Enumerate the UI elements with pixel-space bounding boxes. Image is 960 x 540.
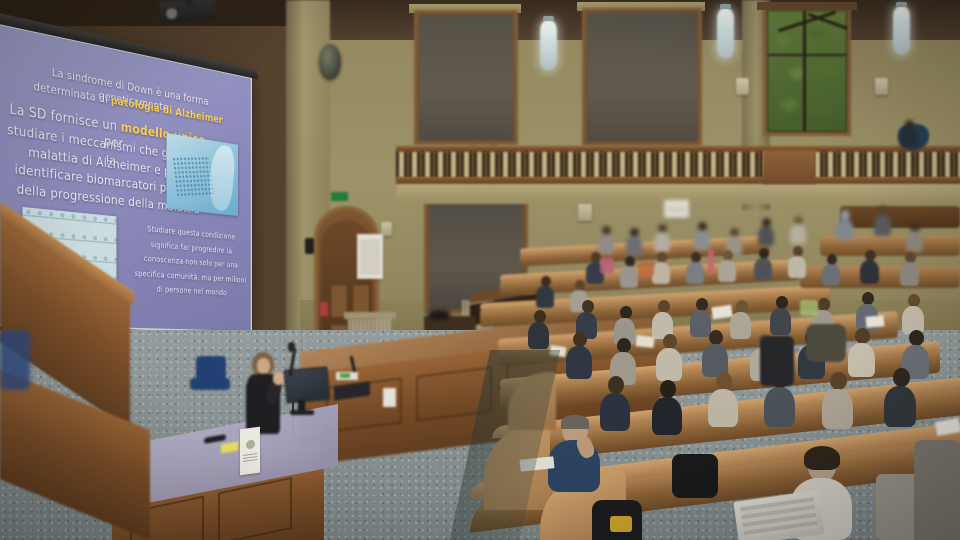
microphone-head bbox=[288, 342, 295, 352]
backpack-on-bench bbox=[806, 324, 846, 362]
window-open-lintel bbox=[757, 2, 857, 10]
audience-person bbox=[654, 224, 670, 250]
monitor-base bbox=[290, 410, 314, 415]
attendee-hair bbox=[561, 415, 589, 429]
bench-right-1 bbox=[840, 206, 960, 228]
audience-person bbox=[874, 206, 891, 234]
wall-speaker-1 bbox=[578, 202, 592, 221]
audience-person bbox=[836, 210, 853, 238]
attendee-foreground-right bbox=[914, 440, 960, 540]
balcony-solid-panel bbox=[763, 150, 815, 184]
wall-phone[interactable] bbox=[305, 238, 314, 254]
wall-sconce-1-cap bbox=[543, 16, 554, 21]
audience-person bbox=[708, 372, 738, 424]
posted-notice bbox=[357, 234, 383, 279]
audience-person bbox=[528, 310, 549, 346]
desk-card-right bbox=[383, 388, 396, 407]
audience-person bbox=[848, 328, 875, 374]
audience-person bbox=[788, 246, 806, 276]
window-shaded-1 bbox=[414, 10, 518, 145]
desk-label-green bbox=[340, 373, 350, 378]
audience-person bbox=[686, 252, 704, 282]
desk-name-card bbox=[240, 427, 260, 476]
audience-person bbox=[652, 252, 670, 282]
audience-person bbox=[598, 226, 614, 252]
audience-person bbox=[758, 218, 774, 244]
audience-person bbox=[822, 372, 853, 426]
audience-person bbox=[730, 300, 751, 336]
wall-sconce-3 bbox=[893, 6, 910, 54]
audience-person bbox=[566, 332, 592, 376]
window-shaded-2 bbox=[582, 8, 702, 146]
audience-person bbox=[614, 306, 635, 342]
window-open-with-foliage bbox=[763, 6, 851, 136]
paper-on-bench bbox=[866, 315, 885, 328]
paper-on-bench bbox=[635, 335, 654, 348]
audience-person bbox=[690, 298, 711, 334]
foreground-attendee-blue-sweater bbox=[548, 418, 600, 488]
audience-clothing-accent bbox=[800, 300, 818, 316]
audience-person bbox=[576, 300, 597, 336]
audience-person bbox=[790, 216, 806, 242]
audience-person bbox=[900, 252, 919, 284]
slide-caption-line-5: di persone nel mondo bbox=[134, 284, 246, 300]
wall-speaker-3 bbox=[875, 78, 888, 95]
audience-person-balcony bbox=[900, 120, 918, 146]
yellow-item-in-bag bbox=[610, 516, 632, 532]
audience-person bbox=[906, 222, 923, 250]
object-on-side-table bbox=[428, 310, 450, 320]
audience-person bbox=[884, 368, 916, 424]
radiator-shelf bbox=[344, 312, 396, 319]
wall-sconce-2-cap bbox=[720, 4, 731, 9]
audience-person bbox=[718, 250, 736, 280]
audience-person bbox=[600, 376, 630, 428]
wall-speaker-2 bbox=[736, 78, 749, 95]
audience-clothing-accent bbox=[708, 250, 714, 274]
audience-person bbox=[860, 250, 879, 282]
posted-notice-2 bbox=[664, 200, 689, 218]
wall-sconce-2 bbox=[717, 8, 734, 58]
coat-on-bench bbox=[760, 336, 794, 386]
wall-sconce-3-cap bbox=[896, 2, 907, 7]
audience-person bbox=[702, 330, 728, 374]
exit-sign bbox=[331, 192, 348, 201]
audience-clothing-accent bbox=[638, 262, 654, 276]
wall-sconce-1 bbox=[540, 20, 557, 70]
balcony-balusters bbox=[396, 152, 960, 178]
audience-person bbox=[822, 254, 840, 284]
blue-office-chair-seat[interactable] bbox=[190, 378, 230, 390]
ceiling-left bbox=[0, 0, 300, 26]
attendee-hair bbox=[804, 446, 840, 470]
audience-person bbox=[656, 334, 682, 378]
wall-medallion-relief bbox=[319, 44, 341, 80]
audience-person bbox=[620, 256, 638, 286]
bag-on-bench bbox=[672, 454, 718, 498]
audience-person bbox=[902, 294, 924, 332]
audience-person bbox=[754, 248, 772, 278]
blue-chair-2[interactable] bbox=[0, 330, 30, 390]
presenter-hand bbox=[273, 372, 284, 385]
slide-caption-line-4: specifica comunità, ma per milioni bbox=[132, 269, 249, 286]
audience-person bbox=[626, 228, 642, 254]
audience-person bbox=[652, 300, 673, 336]
audience-person bbox=[770, 296, 791, 332]
audience-person bbox=[652, 380, 682, 432]
presenter-face bbox=[257, 358, 270, 374]
projector-mount bbox=[186, 0, 192, 6]
lecture-hall-photo: La sindrome di Down è una forma genetica… bbox=[0, 0, 960, 540]
presenter-at-lectern bbox=[240, 352, 286, 440]
audience-clothing-accent bbox=[600, 258, 614, 274]
audience-person bbox=[536, 276, 554, 306]
audience-person bbox=[694, 222, 710, 248]
slide-microarray-image bbox=[166, 133, 237, 216]
